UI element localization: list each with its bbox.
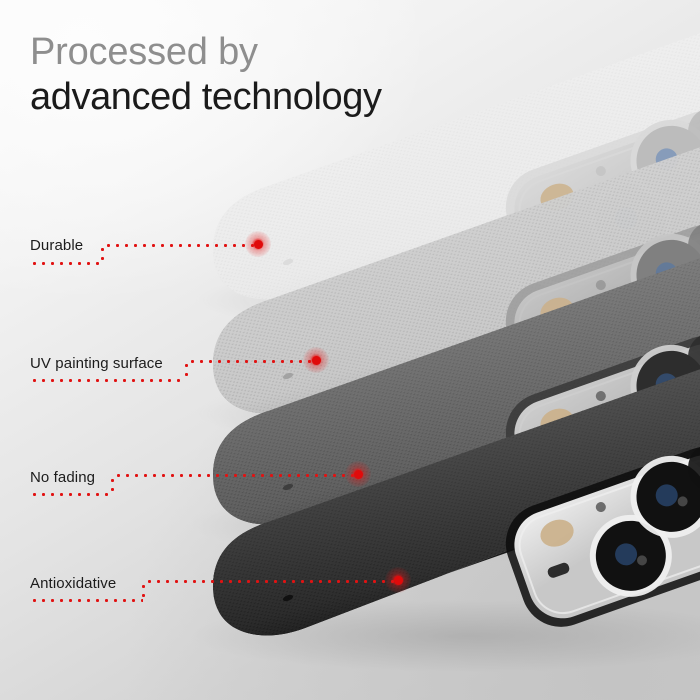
callout-riser-no-fading — [111, 476, 114, 495]
callout-label-no-fading: No fading — [30, 469, 95, 486]
callout-marker-dot-antioxidative[interactable] — [385, 567, 411, 593]
callout-label-durable: Durable — [30, 237, 83, 254]
callout-marker-dot-uv-painting-surface[interactable] — [303, 347, 329, 373]
callout-leader-line-uv-painting-surface — [188, 360, 316, 363]
product-image-canvas: Processed by advanced technology Durable… — [0, 0, 700, 700]
callout-leader-line-antioxidative — [145, 580, 397, 583]
callout-underline-durable — [30, 262, 102, 265]
callout-underline-antioxidative — [30, 599, 143, 602]
callout-leader-line-durable — [104, 244, 258, 247]
headline-line-2: advanced technology — [30, 74, 382, 120]
callout-riser-antioxidative — [142, 582, 145, 601]
marker-core-uv-painting-surface — [312, 356, 321, 365]
callout-label-uv-painting-surface: UV painting surface — [30, 355, 163, 372]
headline-block: Processed by advanced technology — [30, 30, 382, 120]
marker-core-no-fading — [354, 470, 363, 479]
callout-riser-durable — [101, 245, 104, 264]
headline-line-1: Processed by — [30, 30, 382, 74]
marker-core-durable — [254, 240, 263, 249]
callout-underline-no-fading — [30, 493, 112, 496]
callout-marker-dot-no-fading[interactable] — [345, 461, 371, 487]
callout-underline-uv-painting-surface — [30, 379, 186, 382]
callout-label-antioxidative: Antioxidative — [30, 575, 116, 592]
callout-leader-line-no-fading — [114, 474, 356, 477]
callout-marker-dot-durable[interactable] — [245, 231, 271, 257]
marker-core-antioxidative — [394, 576, 403, 585]
callout-riser-uv-painting-surface — [185, 361, 188, 381]
